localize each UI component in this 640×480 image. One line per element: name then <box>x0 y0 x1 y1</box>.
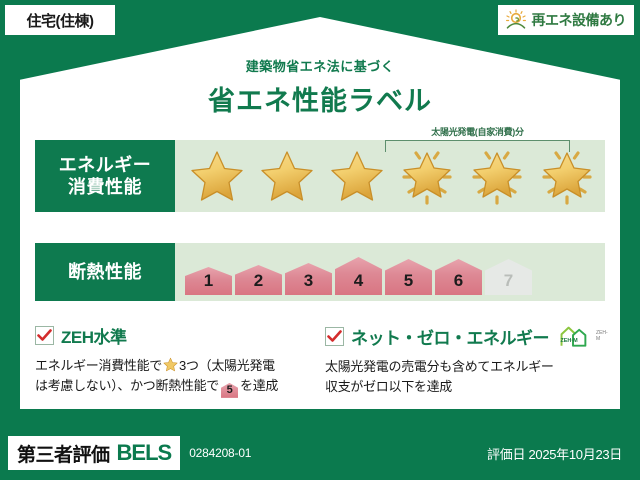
badge-number: 1 <box>204 271 213 291</box>
insulation-level-badge: 6 <box>435 259 482 295</box>
insulation-levels-panel: 1 2 3 4 5 <box>175 243 605 301</box>
svg-text:ZEH·M: ZEH·M <box>560 338 578 344</box>
zeh-desc-star-count: 3つ（太陽光発電 <box>179 358 275 373</box>
net-zero-check-header: ネット・ゼロ・エネルギー ZEH·M ZEH-M <box>325 323 610 349</box>
star-plain <box>253 149 321 203</box>
badge-number: 6 <box>454 271 463 291</box>
star-solar <box>393 147 461 205</box>
insulation-level-badge: 1 <box>185 267 232 295</box>
bels-certification-chip: 第三者評価 BELS <box>8 436 180 470</box>
energy-star-rating <box>175 147 605 205</box>
renewable-equipment-chip: 再エネ設備あり <box>498 5 635 35</box>
sun-renewable-icon <box>504 9 528 31</box>
insulation-level-badge: 4 <box>335 257 382 295</box>
net-zero-desc-line1: 太陽光発電の売電分も含めてエネルギー <box>325 359 554 374</box>
title-block: 建築物省エネ法に基づく 省エネ性能ラベル <box>0 56 640 118</box>
net-zero-checkbox[interactable] <box>325 327 344 346</box>
insulation-level-scale: 1 2 3 4 5 <box>175 243 532 301</box>
energy-stars-panel: 太陽光発電(自家消費)分 <box>175 140 605 212</box>
badge-number: 3 <box>304 271 313 291</box>
footer-bar: 第三者評価 BELS 0284208-01 評価日 2025年10月23日 <box>0 426 640 480</box>
insulation-level-badge: 5 <box>385 259 432 295</box>
title-subtitle: 建築物省エネ法に基づく <box>0 56 640 75</box>
net-zero-title: ネット・ゼロ・エネルギー <box>351 324 549 349</box>
badge-number: 2 <box>254 271 263 291</box>
star-solar <box>463 147 531 205</box>
insulation-level-badge: 3 <box>285 263 332 295</box>
zeh-checkbox[interactable] <box>35 326 54 345</box>
zeh-m-house-logo-icon: ZEH·M <box>558 323 588 349</box>
inline-insulation-badge: 5 <box>221 383 238 398</box>
energy-performance-label-block: エネルギー 消費性能 <box>35 140 175 212</box>
badge-number: 5 <box>404 271 413 291</box>
insulation-label: 断熱性能 <box>68 261 142 284</box>
insulation-performance-row: 断熱性能 1 2 3 4 <box>35 243 605 301</box>
net-zero-description: 太陽光発電の売電分も含めてエネルギー 収支がゼロ以下を達成 <box>325 357 610 397</box>
zeh-check-header: ZEH水準 <box>35 323 315 348</box>
zeh-desc-part2: は考慮しない）、かつ断熱性能で <box>35 378 219 393</box>
evaluation-date: 評価日 2025年10月23日 <box>487 444 622 463</box>
net-zero-check-section: ネット・ゼロ・エネルギー ZEH·M ZEH-M 太陽光発電の売電分も含めてエネ… <box>325 323 610 397</box>
badge-number: 5 <box>227 384 233 398</box>
energy-performance-label: 住宅(住棟) 再エネ設備あり 建築物省エネ法に基づく 省エネ性能ラベル エネル <box>0 0 640 480</box>
certificate-number: 0284208-01 <box>189 446 251 460</box>
zeh-description: エネルギー消費性能で3つ（太陽光発電 は考慮しない）、かつ断熱性能で5を達成 <box>35 356 315 398</box>
check-icon <box>37 329 52 342</box>
star-plain <box>183 149 251 203</box>
insulation-level-badge: 2 <box>235 265 282 295</box>
housing-type-label: 住宅(住棟) <box>27 10 94 31</box>
bels-en-label: BELS <box>117 440 172 466</box>
insulation-level-badge: 7 <box>485 259 532 295</box>
badge-number: 7 <box>504 271 513 291</box>
star-plain <box>323 149 391 203</box>
badge-number: 4 <box>354 271 363 291</box>
energy-label-line1: エネルギー <box>59 154 152 177</box>
energy-performance-row: エネルギー 消費性能 太陽光発電(自家消費)分 <box>35 140 605 212</box>
zeh-title: ZEH水準 <box>61 323 127 348</box>
renewable-equipment-label: 再エネ設備あり <box>532 10 627 30</box>
zeh-desc-part3: を達成 <box>240 378 278 393</box>
net-zero-desc-line2: 収支がゼロ以下を達成 <box>325 379 452 394</box>
star-solar <box>533 147 601 205</box>
page-title: 省エネ性能ラベル <box>0 79 640 118</box>
housing-type-chip: 住宅(住棟) <box>5 5 115 35</box>
zeh-desc-part1: エネルギー消費性能で <box>35 358 162 373</box>
insulation-performance-label-block: 断熱性能 <box>35 243 175 301</box>
inline-star-icon <box>163 357 178 372</box>
zeh-check-section: ZEH水準 エネルギー消費性能で3つ（太陽光発電 は考慮しない）、かつ断熱性能で… <box>35 323 315 398</box>
energy-label-line2: 消費性能 <box>68 176 142 199</box>
check-icon <box>327 330 342 343</box>
bels-jp-label: 第三者評価 <box>17 440 110 467</box>
zeh-m-logo-caption: ZEH-M <box>596 330 610 342</box>
